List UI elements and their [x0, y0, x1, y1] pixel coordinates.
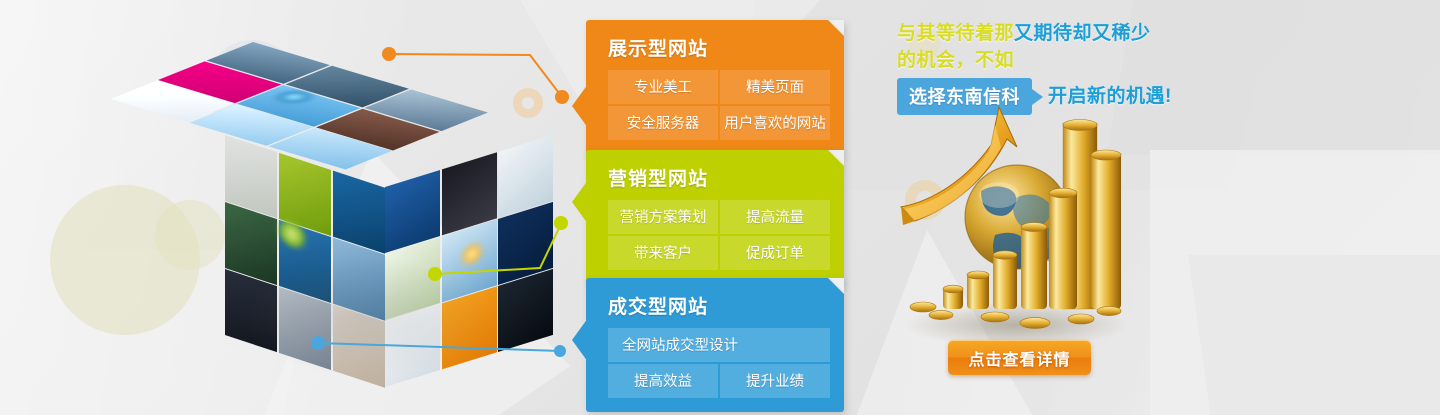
loose-coin	[1068, 314, 1094, 324]
panel-notch-green	[572, 180, 588, 224]
headline-line1-blue: 又期待却又稀少	[1014, 23, 1151, 44]
panel-notch-orange	[572, 84, 588, 128]
panel-showcase-website[interactable]: 展示型网站 专业美工 精美页面 安全服务器 用户喜欢的网站	[586, 20, 844, 154]
panel-feature-cell[interactable]: 营销方案策划	[608, 200, 718, 234]
loose-coin	[1097, 306, 1121, 315]
panel-title: 营销型网站	[608, 164, 830, 191]
panel-title: 展示型网站	[608, 34, 830, 61]
panel-feature-cell[interactable]: 带来客户	[608, 236, 718, 270]
cube-face-right	[385, 135, 553, 387]
view-details-button[interactable]: 点击查看详情	[948, 340, 1091, 375]
coin-stack	[1091, 150, 1121, 309]
background-facet-7	[1188, 255, 1440, 415]
banner-stage: 展示型网站 专业美工 精美页面 安全服务器 用户喜欢的网站 营销型网站 营销方案…	[0, 0, 1440, 415]
panel-fold-corner-green	[828, 150, 844, 166]
loose-coin	[981, 312, 1009, 322]
website-showcase-cube	[205, 42, 535, 362]
panel-fold-corner-blue	[828, 278, 844, 294]
panel-fold-corner-orange	[828, 20, 844, 36]
panel-feature-cell[interactable]: 提高效益	[608, 364, 718, 398]
coin-stack	[943, 285, 963, 309]
panel-feature-cell[interactable]: 提高流量	[720, 200, 830, 234]
panel-row: 安全服务器 用户喜欢的网站	[608, 106, 830, 140]
cube-face-left	[225, 135, 385, 388]
panel-feature-cell[interactable]: 安全服务器	[608, 106, 718, 140]
panel-feature-cell[interactable]: 全网站成交型设计	[608, 328, 830, 362]
coin-stack	[1049, 188, 1077, 309]
headline-line-2: 的机会，不如	[897, 47, 1197, 74]
coin-stack	[993, 251, 1017, 309]
loose-coin	[1020, 318, 1050, 329]
loose-coin	[929, 310, 953, 319]
loose-coin	[910, 302, 936, 312]
growth-illustration	[895, 95, 1130, 345]
panel-row: 提高效益 提升业绩	[608, 364, 830, 398]
coin-stack	[1021, 223, 1047, 310]
panel-row: 营销方案策划 提高流量	[608, 200, 830, 234]
panel-row: 带来客户 促成订单	[608, 236, 830, 270]
panel-notch-blue	[572, 318, 588, 362]
panel-conversion-website[interactable]: 成交型网站 全网站成交型设计 提高效益 提升业绩	[586, 278, 844, 412]
panel-marketing-website[interactable]: 营销型网站 营销方案策划 提高流量 带来客户 促成订单	[586, 150, 844, 284]
panel-feature-cell[interactable]: 提升业绩	[720, 364, 830, 398]
headline-line-1: 与其等待着那又期待却又稀少	[897, 20, 1197, 47]
panel-feature-cell[interactable]: 促成订单	[720, 236, 830, 270]
coin-stack	[967, 271, 989, 309]
panel-feature-cell[interactable]: 专业美工	[608, 70, 718, 104]
panel-row: 全网站成交型设计	[608, 328, 830, 362]
panel-feature-cell[interactable]: 精美页面	[720, 70, 830, 104]
panel-title: 成交型网站	[608, 292, 830, 319]
headline-line1-yellow: 与其等待着那	[897, 23, 1014, 44]
panel-feature-cell[interactable]: 用户喜欢的网站	[720, 106, 830, 140]
panel-row: 专业美工 精美页面	[608, 70, 830, 104]
